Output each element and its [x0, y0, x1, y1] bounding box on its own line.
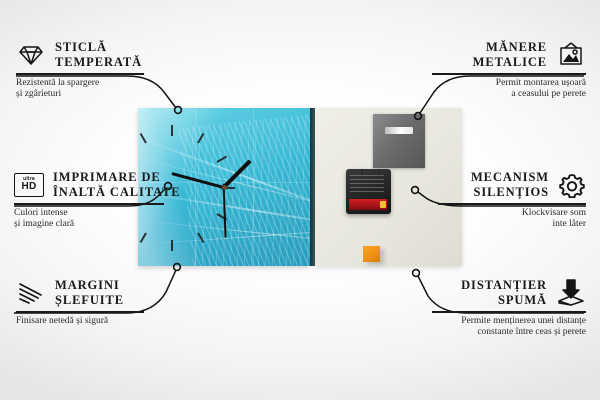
feature-silent-mechanism: MECANISM SILENȚIOS Klockvisare som inte …	[438, 170, 586, 231]
metal-hanger-plate	[373, 114, 425, 168]
leader-dot-foam-spacer	[413, 270, 420, 277]
ultra-hd-icon-main-text: HD	[21, 182, 36, 192]
battery-terminal	[380, 201, 386, 208]
hanger-slot	[385, 127, 413, 134]
feature-title: DISTANȚIER SPUMĂ	[461, 278, 547, 307]
mechanism-label	[350, 174, 384, 192]
battery	[349, 199, 387, 210]
feature-title: IMPRIMARE DE ÎNALTĂ CALITATE	[53, 170, 181, 199]
feature-header: DISTANȚIER SPUMĂ	[432, 278, 586, 307]
feature-header: MARGINI ȘLEFUITE	[16, 278, 144, 307]
feature-header: MECANISM SILENȚIOS	[438, 170, 586, 199]
feature-tempered-glass: STICLĂ TEMPERATĂ Rezistentă la spargere …	[16, 40, 144, 101]
feature-high-quality-print: ultra HD IMPRIMARE DE ÎNALTĂ CALITATE Cu…	[14, 170, 164, 231]
picture-frame-hanger-icon	[556, 42, 586, 67]
ultra-hd-icon: ultra HD	[14, 173, 44, 197]
feature-description: Finisare netedă și sigură	[16, 316, 144, 328]
clock-second-hand	[223, 184, 226, 238]
feature-description: Culori intense și imagine clară	[14, 208, 164, 231]
feature-header: MĂNERE METALICE	[432, 40, 586, 69]
feature-header: STICLĂ TEMPERATĂ	[16, 40, 144, 69]
feature-title: MĂNERE METALICE	[473, 40, 547, 69]
foam-spacer-part	[363, 246, 380, 262]
feature-divider	[16, 73, 144, 75]
quartz-mechanism-box	[346, 169, 391, 214]
hatched-lines-icon	[16, 281, 46, 305]
feature-polished-edges: MARGINI ȘLEFUITE Finisare netedă și sigu…	[16, 278, 144, 327]
product-image	[138, 108, 462, 266]
diamond-icon	[16, 43, 46, 67]
feature-divider	[14, 203, 164, 205]
gear-icon	[558, 172, 586, 198]
product-infographic: STICLĂ TEMPERATĂ Rezistentă la spargere …	[0, 0, 600, 400]
feature-divider	[432, 73, 586, 75]
feature-foam-spacer: DISTANȚIER SPUMĂ Permite menținerea unei…	[432, 278, 586, 339]
feature-divider	[16, 311, 144, 313]
feature-description: Permite menținerea unei distanțe constan…	[432, 316, 586, 339]
feature-metal-handles: MĂNERE METALICE Permit montarea ușoară a…	[432, 40, 586, 101]
feature-description: Klockvisare som inte låter	[438, 208, 586, 231]
clock-center-cap	[222, 185, 227, 190]
feature-divider	[432, 311, 586, 313]
feature-title: MECANISM SILENȚIOS	[471, 170, 549, 199]
feature-description: Rezistentă la spargere și zgârieturi	[16, 78, 144, 101]
feature-header: ultra HD IMPRIMARE DE ÎNALTĂ CALITATE	[14, 170, 164, 199]
feature-divider	[438, 203, 586, 205]
feature-title: STICLĂ TEMPERATĂ	[55, 40, 142, 69]
feature-title: MARGINI ȘLEFUITE	[55, 278, 124, 307]
down-arrow-layer-icon	[556, 279, 586, 306]
feature-description: Permit montarea ușoară a ceasului pe per…	[432, 78, 586, 101]
